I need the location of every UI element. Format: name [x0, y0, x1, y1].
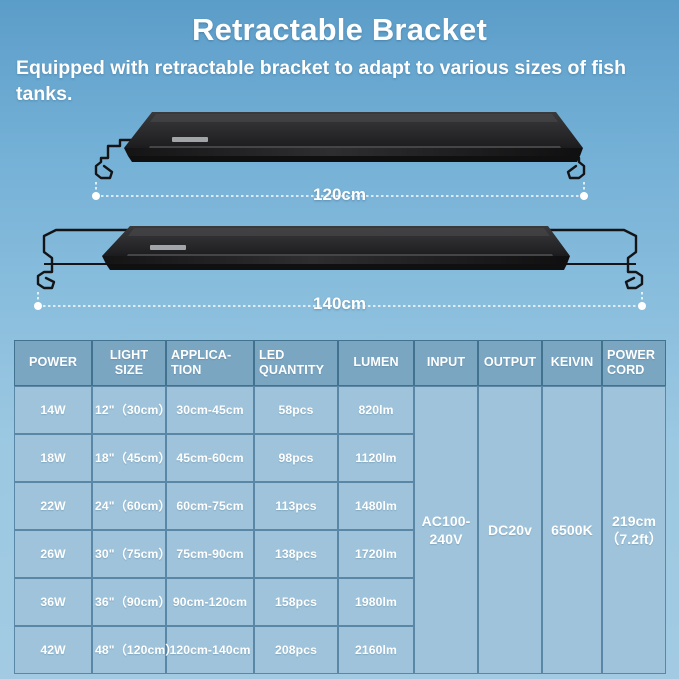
cell-application: 60cm-75cm: [166, 482, 254, 530]
header-light-size: LIGHT SIZE: [92, 340, 166, 386]
cell-power: 42W: [14, 626, 92, 674]
cell-input: AC100-240V: [414, 386, 478, 674]
cell-light-size: 12"（30cm）: [92, 386, 166, 434]
cell-light-size: 36"（90cm）: [92, 578, 166, 626]
header-output: OUTPUT: [478, 340, 542, 386]
dimension-label-140cm: 140cm: [0, 294, 679, 314]
cell-application: 90cm-120cm: [166, 578, 254, 626]
cell-lumen: 1480lm: [338, 482, 414, 530]
table-row: 14W 12"（30cm） 30cm-45cm 58pcs 820lm AC10…: [14, 386, 666, 434]
cell-led-quantity: 98pcs: [254, 434, 338, 482]
cell-power: 26W: [14, 530, 92, 578]
cell-light-size: 48"（120cm）: [92, 626, 166, 674]
cell-light-size: 24"（60cm）: [92, 482, 166, 530]
cell-power: 14W: [14, 386, 92, 434]
header-keivin: KEIVIN: [542, 340, 602, 386]
table-header-row: POWER LIGHT SIZE APPLICA-TION LED QUANTI…: [14, 340, 666, 386]
cell-application: 120cm-140cm: [166, 626, 254, 674]
cell-lumen: 2160lm: [338, 626, 414, 674]
cell-led-quantity: 113pcs: [254, 482, 338, 530]
cell-application: 30cm-45cm: [166, 386, 254, 434]
infographic-page: Retractable Bracket Equipped with retrac…: [0, 0, 679, 679]
cell-lumen: 1980lm: [338, 578, 414, 626]
cell-led-quantity: 158pcs: [254, 578, 338, 626]
cell-power: 22W: [14, 482, 92, 530]
cell-lumen: 820lm: [338, 386, 414, 434]
cell-light-size: 30"（75cm）: [92, 530, 166, 578]
cell-application: 45cm-60cm: [166, 434, 254, 482]
header-input: INPUT: [414, 340, 478, 386]
cell-led-quantity: 58pcs: [254, 386, 338, 434]
cell-led-quantity: 208pcs: [254, 626, 338, 674]
header-led-quantity: LED QUANTITY: [254, 340, 338, 386]
cell-power: 36W: [14, 578, 92, 626]
cell-power: 18W: [14, 434, 92, 482]
cell-led-quantity: 138pcs: [254, 530, 338, 578]
cell-light-size: 18"（45cm）: [92, 434, 166, 482]
page-title: Retractable Bracket: [0, 12, 679, 48]
cell-keivin: 6500K: [542, 386, 602, 674]
header-lumen: LUMEN: [338, 340, 414, 386]
cell-power-cord: 219cm （7.2ft）: [602, 386, 666, 674]
specification-table: POWER LIGHT SIZE APPLICA-TION LED QUANTI…: [14, 340, 666, 674]
brand-logo: [150, 245, 186, 250]
brand-logo: [172, 137, 208, 142]
cell-application: 75cm-90cm: [166, 530, 254, 578]
cell-lumen: 1720lm: [338, 530, 414, 578]
cell-output: DC20v: [478, 386, 542, 674]
cell-lumen: 1120lm: [338, 434, 414, 482]
header-power: POWER: [14, 340, 92, 386]
header-power-cord: POWER CORD: [602, 340, 666, 386]
header-application: APPLICA-TION: [166, 340, 254, 386]
